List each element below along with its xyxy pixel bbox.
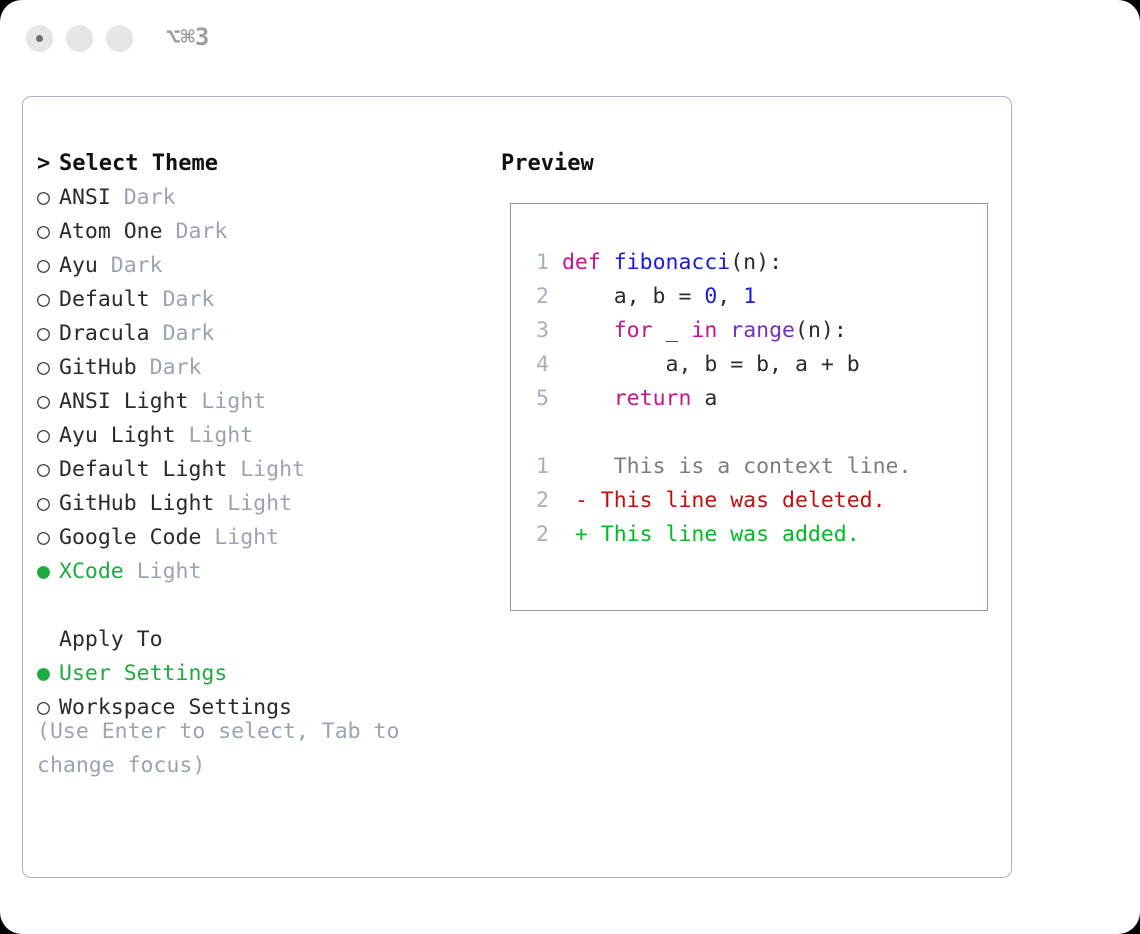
keyboard-shortcut-label: ⌥⌘3	[166, 23, 209, 51]
theme-option-variant: Light	[201, 389, 266, 414]
code-token: 0	[704, 284, 717, 309]
apply-to-option-row[interactable]: ●User Settings	[37, 657, 477, 691]
apply-to-header: Apply To	[37, 623, 477, 657]
gutter-space	[549, 386, 562, 411]
theme-option-name: ANSI Light	[59, 389, 188, 414]
diff-text: This line was deleted.	[588, 488, 886, 513]
radio-unselected-icon[interactable]: ○	[37, 419, 59, 453]
code-line: 1 def fibonacci(n):	[525, 246, 911, 280]
radio-unselected-icon[interactable]: ○	[37, 351, 59, 385]
keyboard-hint-text: (Use Enter to select, Tab to change focu…	[37, 715, 447, 783]
radio-unselected-icon[interactable]: ○	[37, 385, 59, 419]
radio-unselected-icon[interactable]: ○	[37, 317, 59, 351]
theme-option-row[interactable]: ●XCode Light	[37, 555, 477, 589]
theme-option-variant: Light	[240, 457, 305, 482]
line-number: 1	[525, 246, 549, 280]
line-number: 3	[525, 314, 549, 348]
theme-option-row[interactable]: ○Default Dark	[37, 283, 477, 317]
traffic-light-close[interactable]	[26, 25, 53, 52]
apply-to-option-name: User Settings	[59, 661, 227, 686]
spacer	[214, 491, 227, 516]
gutter-space	[549, 284, 562, 309]
radio-unselected-icon[interactable]: ○	[37, 249, 59, 283]
theme-option-name: XCode	[59, 559, 124, 584]
spacer	[163, 219, 176, 244]
diff-line: 2 + This line was added.	[525, 518, 911, 552]
theme-option-row[interactable]: ○GitHub Light Light	[37, 487, 477, 521]
code-token: range	[730, 318, 795, 343]
app-window: ⌥⌘3 >Select Theme○ANSI Dark○Atom One Dar…	[0, 0, 1140, 934]
theme-option-name: Default Light	[59, 457, 227, 482]
section-divider	[37, 589, 477, 623]
radio-selected-icon[interactable]: ●	[37, 555, 59, 589]
preview-box: 1 def fibonacci(n):2 a, b = 0, 13 for _ …	[510, 203, 988, 611]
code-token: (n):	[795, 318, 847, 343]
theme-picker-panel: >Select Theme○ANSI Dark○Atom One Dark○Ay…	[22, 96, 1012, 878]
theme-selection-column: >Select Theme○ANSI Dark○Atom One Dark○Ay…	[37, 147, 477, 725]
diff-line: 1 This is a context line.	[525, 450, 911, 484]
line-number: 2	[525, 484, 549, 518]
theme-option-variant: Light	[137, 559, 202, 584]
diff-marker: -	[575, 488, 588, 513]
theme-option-name: Dracula	[59, 321, 150, 346]
spacer	[176, 423, 189, 448]
traffic-light-minimize[interactable]	[66, 25, 93, 52]
theme-option-name: Ayu Light	[59, 423, 176, 448]
diff-marker	[575, 454, 588, 479]
radio-unselected-icon[interactable]: ○	[37, 453, 59, 487]
radio-selected-icon[interactable]: ●	[37, 657, 59, 691]
theme-option-name: GitHub Light	[59, 491, 214, 516]
code-token: _	[653, 318, 692, 343]
line-number: 5	[525, 382, 549, 416]
code-line: 5 return a	[525, 382, 911, 416]
theme-option-variant: Dark	[150, 355, 202, 380]
radio-unselected-icon[interactable]: ○	[37, 521, 59, 555]
spacer	[124, 559, 137, 584]
theme-option-variant: Dark	[124, 185, 176, 210]
code-token: 1	[743, 284, 756, 309]
apply-to-header-label: Apply To	[59, 627, 163, 652]
spacer	[111, 185, 124, 210]
theme-option-variant: Light	[227, 491, 292, 516]
radio-unselected-icon[interactable]: ○	[37, 487, 59, 521]
radio-unselected-icon[interactable]: ○	[37, 283, 59, 317]
code-token: return	[614, 386, 692, 411]
traffic-light-active-dot	[36, 35, 43, 42]
theme-option-row[interactable]: ○ANSI Dark	[37, 181, 477, 215]
preview-column: Preview 1 def fibonacci(n):2 a, b = 0, 1…	[501, 147, 1001, 181]
preview-code: 1 def fibonacci(n):2 a, b = 0, 13 for _ …	[525, 246, 911, 552]
code-line: 2 a, b = 0, 1	[525, 280, 911, 314]
code-diff-divider	[525, 416, 911, 450]
theme-option-variant: Dark	[163, 321, 215, 346]
theme-option-name: Atom One	[59, 219, 163, 244]
theme-option-name: Ayu	[59, 253, 98, 278]
theme-option-row[interactable]: ○Atom One Dark	[37, 215, 477, 249]
gutter-space	[549, 250, 562, 275]
code-token: in	[691, 318, 717, 343]
theme-option-variant: Dark	[176, 219, 228, 244]
gutter-space	[549, 318, 562, 343]
code-token: def	[562, 250, 614, 275]
gutter-space	[549, 352, 562, 377]
theme-option-row[interactable]: ○ANSI Light Light	[37, 385, 477, 419]
code-token	[562, 318, 614, 343]
theme-list-header: >Select Theme	[37, 147, 477, 181]
spacer	[137, 355, 150, 380]
radio-unselected-icon[interactable]: ○	[37, 181, 59, 215]
code-token: fibonacci	[614, 250, 731, 275]
diff-marker: +	[575, 522, 588, 547]
line-number: 2	[525, 518, 549, 552]
spacer	[150, 321, 163, 346]
theme-option-variant: Dark	[111, 253, 163, 278]
code-token: ,	[717, 284, 743, 309]
spacer	[150, 287, 163, 312]
line-number: 1	[525, 450, 549, 484]
code-token: a	[691, 386, 717, 411]
line-number: 2	[525, 280, 549, 314]
theme-option-row[interactable]: ○GitHub Dark	[37, 351, 477, 385]
spacer	[98, 253, 111, 278]
gutter-space	[549, 522, 575, 547]
theme-option-row[interactable]: ○Google Code Light	[37, 521, 477, 555]
spacer	[188, 389, 201, 414]
theme-option-name: GitHub	[59, 355, 137, 380]
theme-option-name: ANSI	[59, 185, 111, 210]
chevron-right-icon: >	[37, 147, 59, 181]
diff-text: This line was added.	[588, 522, 860, 547]
traffic-light-maximize[interactable]	[106, 25, 133, 52]
code-token: for	[614, 318, 653, 343]
theme-option-variant: Light	[214, 525, 279, 550]
diff-text: This is a context line.	[588, 454, 912, 479]
code-token: a, b = b, a + b	[562, 352, 860, 377]
gutter-space	[549, 488, 575, 513]
code-token	[717, 318, 730, 343]
spacer	[227, 457, 240, 482]
theme-option-name: Google Code	[59, 525, 201, 550]
spacer	[201, 525, 214, 550]
code-token: (n):	[730, 250, 782, 275]
theme-option-row[interactable]: ○Default Light Light	[37, 453, 477, 487]
theme-option-variant: Dark	[163, 287, 215, 312]
theme-option-row[interactable]: ○Dracula Dark	[37, 317, 477, 351]
theme-list-header-label: Select Theme	[59, 151, 218, 176]
code-token: a, b =	[562, 284, 704, 309]
code-line: 4 a, b = b, a + b	[525, 348, 911, 382]
code-line: 3 for _ in range(n):	[525, 314, 911, 348]
theme-option-row[interactable]: ○Ayu Light Light	[37, 419, 477, 453]
gutter-space	[549, 454, 575, 479]
code-token	[562, 386, 614, 411]
radio-unselected-icon[interactable]: ○	[37, 215, 59, 249]
theme-option-variant: Light	[188, 423, 253, 448]
theme-option-name: Default	[59, 287, 150, 312]
preview-title: Preview	[501, 147, 1001, 181]
line-number: 4	[525, 348, 549, 382]
title-bar: ⌥⌘3	[0, 0, 1140, 78]
theme-option-row[interactable]: ○Ayu Dark	[37, 249, 477, 283]
diff-line: 2 - This line was deleted.	[525, 484, 911, 518]
blank-marker	[37, 623, 59, 657]
